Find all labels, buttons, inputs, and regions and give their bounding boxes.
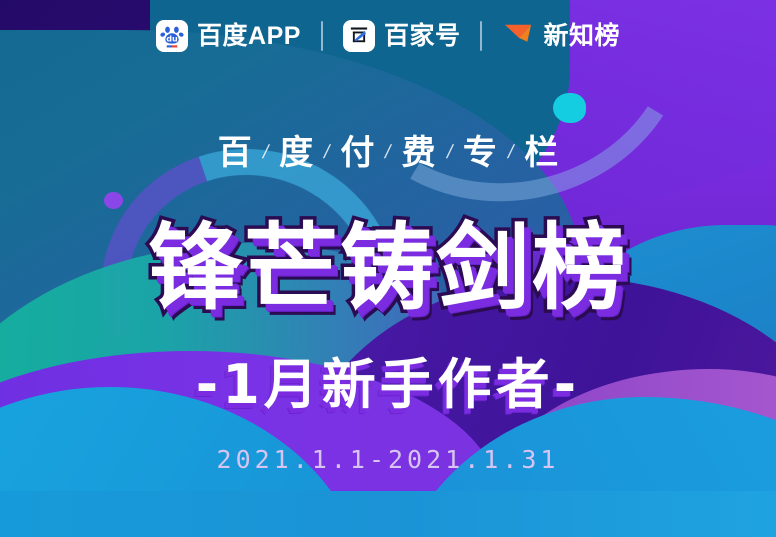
subtitle-char-5: 专 xyxy=(463,136,497,170)
bg-wave-base xyxy=(0,491,776,537)
subtitle-separator: / xyxy=(322,142,332,164)
svg-text:du: du xyxy=(166,34,178,44)
subtitle-month-line: -1月新手作者- xyxy=(0,358,776,412)
main-title: 锋芒铸剑榜 xyxy=(148,222,628,316)
subtitle-row: 百 / 度 / 付 / 费 / 专 / 栏 xyxy=(0,136,776,170)
subtitle-char-1: 百 xyxy=(218,136,252,170)
logo-label-baijiahao: 百家号 xyxy=(384,24,461,49)
subtitle-char-6: 栏 xyxy=(524,136,558,170)
subtitle-char-3: 付 xyxy=(340,136,374,170)
logo-baidu-app: du 百度APP xyxy=(156,20,301,52)
logo-divider-2 xyxy=(480,21,482,51)
promo-banner: du 百度APP 百家号 xyxy=(0,0,776,537)
logo-divider-1 xyxy=(321,21,323,51)
logo-baijiahao: 百家号 xyxy=(343,20,461,52)
subtitle-char-4: 费 xyxy=(402,136,436,170)
subtitle-char-2: 度 xyxy=(279,136,313,170)
bg-cyan-dot xyxy=(553,93,586,123)
main-title-wrap: 锋芒铸剑榜 xyxy=(0,222,776,316)
subtitle-separator: / xyxy=(506,142,516,164)
subtitle-separator: / xyxy=(383,142,393,164)
bg-purple-dot xyxy=(104,192,123,209)
baidu-paw-icon: du xyxy=(156,20,188,52)
logo-label-baidu-app: 百度APP xyxy=(197,24,301,49)
subtitle-separator: / xyxy=(260,142,270,164)
logo-xinzhibang: 新知榜 xyxy=(502,20,620,52)
logo-label-xinzhibang: 新知榜 xyxy=(543,24,620,49)
logo-row: du 百度APP 百家号 xyxy=(0,20,776,52)
xinzhibang-arrow-icon xyxy=(502,20,534,52)
baijiahao-icon xyxy=(343,20,375,52)
date-range: 2021.1.1-2021.1.31 xyxy=(0,447,776,472)
subtitle-separator: / xyxy=(444,142,454,164)
